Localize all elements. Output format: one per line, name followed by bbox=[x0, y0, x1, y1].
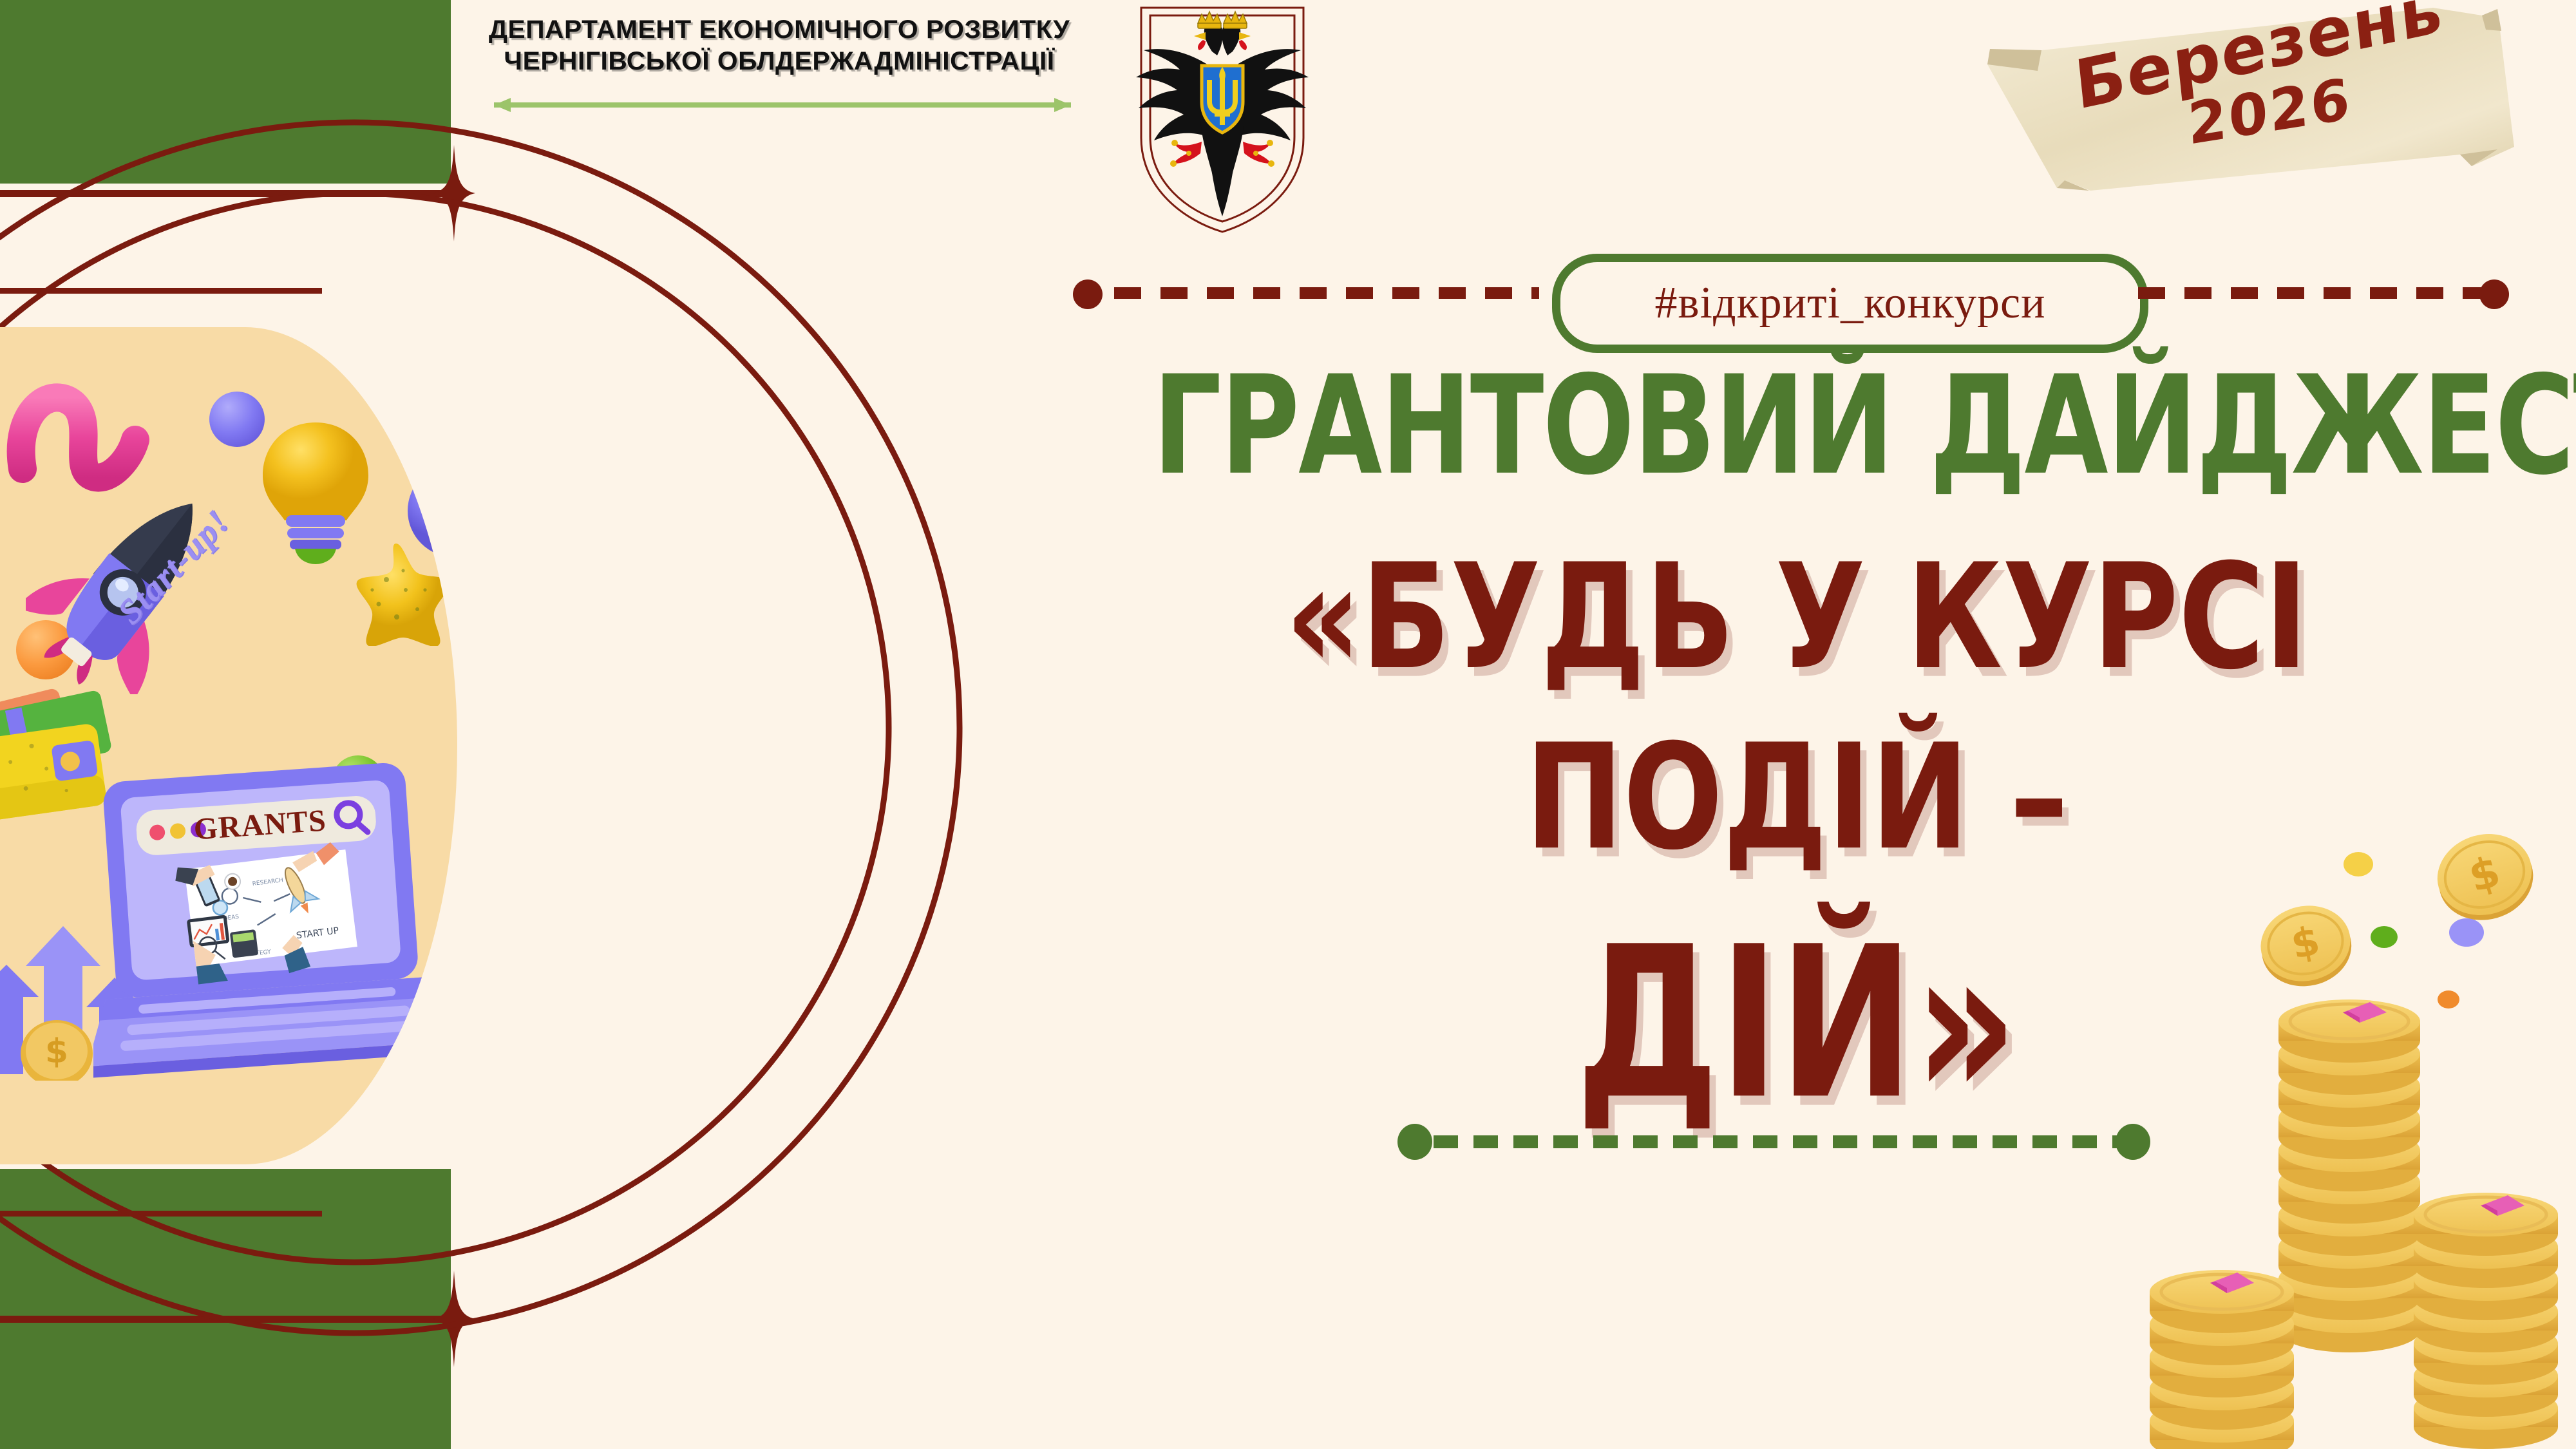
department-line-1: ДЕПАРТАМЕНТ ЕКОНОМІЧНОГО РОЗВИТКУ bbox=[438, 14, 1121, 46]
hashtag-row: #відкриті_конкурси bbox=[1069, 258, 2512, 328]
dash-endcap-right bbox=[2479, 279, 2509, 309]
dash-endcap-left bbox=[1073, 279, 1103, 309]
department-title: ДЕПАРТАМЕНТ ЕКОНОМІЧНОГО РОЗВИТКУ ЧЕРНІГ… bbox=[438, 14, 1121, 77]
dashed-line-left bbox=[1114, 287, 1539, 299]
purple-sphere-icon bbox=[209, 392, 265, 447]
green-divider bbox=[1397, 1124, 2151, 1162]
hashtag-badge[interactable]: #відкриті_конкурси bbox=[1552, 254, 2148, 353]
hashtag-label: #відкриті_конкурси bbox=[1654, 278, 2045, 329]
double-arrow-icon bbox=[480, 97, 1085, 113]
laptop-icon: GRANTS RESEARCH IDEAS bbox=[93, 762, 457, 1084]
decor-rule-bottom-long bbox=[0, 1316, 464, 1323]
subtitle-line-1: «БУДЬ У КУРСІ bbox=[1153, 544, 2441, 690]
svg-text:$: $ bbox=[45, 1032, 68, 1071]
coat-of-arms-icon bbox=[1126, 4, 1319, 236]
illustration-panel: $ Start-up! GRANTS bbox=[0, 327, 457, 1164]
check-badge-icon bbox=[406, 462, 457, 559]
poster-canvas: $ Start-up! GRANTS bbox=[0, 0, 2576, 1449]
green-bar-top bbox=[0, 0, 451, 184]
green-dashed-line bbox=[1434, 1135, 2117, 1148]
department-line-2: ЧЕРНІГІВСЬКОЇ ОБЛДЕРЖАДМІНІСТРАЦІЇ bbox=[438, 46, 1121, 77]
decor-rule-top-long bbox=[0, 190, 464, 197]
coin-stacks-illustration: $ $ bbox=[2145, 818, 2576, 1449]
page-title: ГРАНТОВИЙ ДАЙДЖЕСТ bbox=[1153, 357, 2441, 494]
dashed-line-right bbox=[2138, 287, 2505, 299]
decor-rule-top-short bbox=[0, 288, 322, 294]
green-endcap-left bbox=[1397, 1124, 1432, 1160]
decor-rule-bottom-short bbox=[0, 1211, 322, 1217]
